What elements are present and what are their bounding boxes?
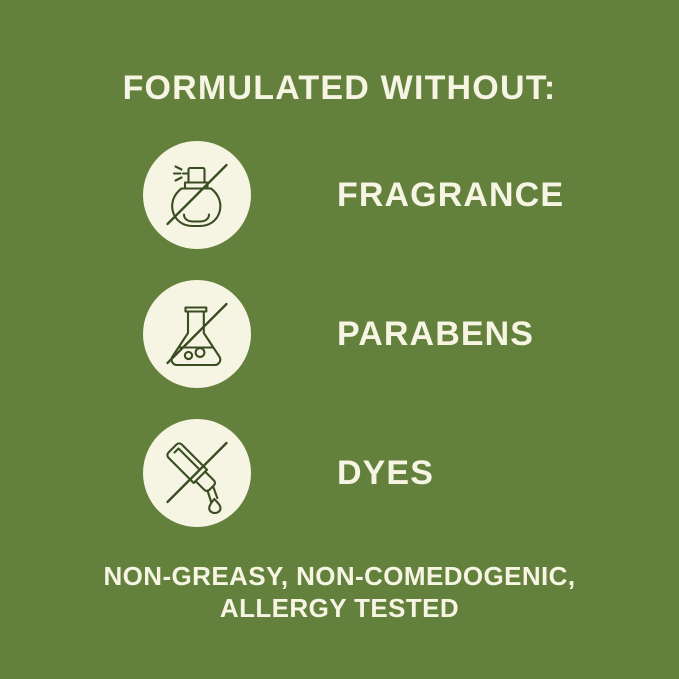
claims-list: FRAGRANCE PARABENS: [143, 141, 603, 558]
footer-line-1: NON-GREASY, NON-COMEDOGENIC,: [0, 560, 679, 592]
formulated-without-panel: FORMULATED WITHOUT:: [0, 0, 679, 679]
list-item: FRAGRANCE: [143, 141, 603, 249]
no-dropper-icon: [143, 419, 251, 527]
claim-label: FRAGRANCE: [337, 176, 564, 214]
list-item: DYES: [143, 419, 603, 527]
footer-claims: NON-GREASY, NON-COMEDOGENIC, ALLERGY TES…: [0, 560, 679, 624]
no-flask-icon: [143, 280, 251, 388]
page-title: FORMULATED WITHOUT:: [0, 68, 679, 108]
claim-label: DYES: [337, 454, 434, 492]
footer-line-2: ALLERGY TESTED: [0, 592, 679, 624]
no-perfume-bottle-icon: [143, 141, 251, 249]
claim-label: PARABENS: [337, 315, 534, 353]
list-item: PARABENS: [143, 280, 603, 388]
